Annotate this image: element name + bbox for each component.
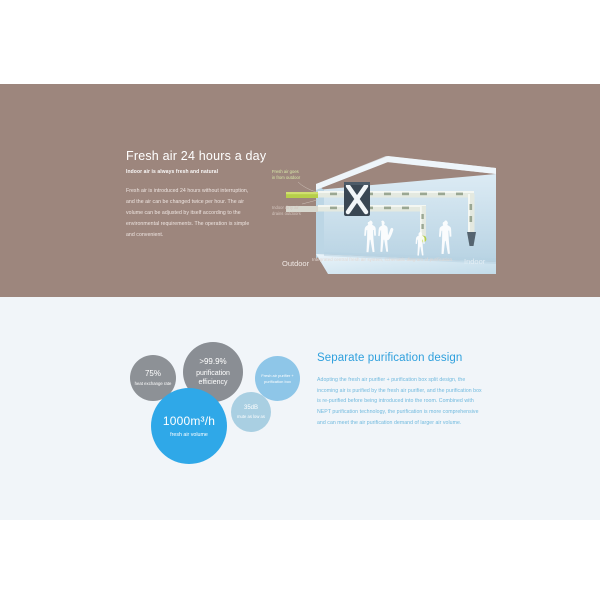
diagram-caption: Integrated central fresh air system, sch… <box>268 257 496 262</box>
feature-bubble-group: 75% heat exchange rate >99.9% purificati… <box>126 342 311 457</box>
bubble-value: 1000m³/h <box>163 413 215 429</box>
bubble-label: heat exchange rate <box>135 381 172 387</box>
diagram-label-outlet-line2: drains outdoors <box>272 211 301 216</box>
page-title: Fresh air 24 hours a day <box>126 149 258 164</box>
separate-purification-section: 75% heat exchange rate >99.9% purificati… <box>0 297 600 520</box>
fresh-air-section: Fresh air 24 hours a day Indoor air is a… <box>0 84 600 297</box>
bubble-noise-level: 35dB mute as low as <box>231 392 271 432</box>
bubble-value: 75% <box>145 369 161 380</box>
page-subtitle: Indoor air is always fresh and natural <box>126 169 258 175</box>
section-title: Separate purification design <box>317 352 487 364</box>
fresh-air-text-column: Fresh air 24 hours a day Indoor air is a… <box>126 149 258 241</box>
bubble-label: purification efficiency <box>183 369 243 387</box>
duct-supply-line <box>318 191 474 198</box>
diagram-label-inlet-line1: Fresh air goes <box>272 169 299 174</box>
product-feature-page: Fresh air 24 hours a day Indoor air is a… <box>0 0 600 600</box>
bubble-value: 35dB <box>244 404 258 412</box>
bubble-label: Fresh air purifier + purification box <box>255 373 300 385</box>
diagram-label-outlet-line1: Indoor dirty air <box>272 205 299 210</box>
bubble-fresh-air-volume: 1000m³/h fresh air volume <box>151 388 227 464</box>
bubble-label: mute as low as <box>237 414 265 420</box>
fresh-air-description: Fresh air is introduced 24 hours without… <box>126 186 258 241</box>
duct-return-line <box>318 205 426 212</box>
diagram-label-inlet-line2: in from outdoor <box>272 175 301 180</box>
heat-exchanger-unit <box>344 182 370 216</box>
bubble-label: fresh air volume <box>170 432 208 439</box>
bubble-value: >99.9% <box>199 357 226 368</box>
section-description: Adopting the fresh air purifier + purifi… <box>317 375 487 428</box>
separate-purification-text-column: Separate purification design Adopting th… <box>317 352 487 428</box>
